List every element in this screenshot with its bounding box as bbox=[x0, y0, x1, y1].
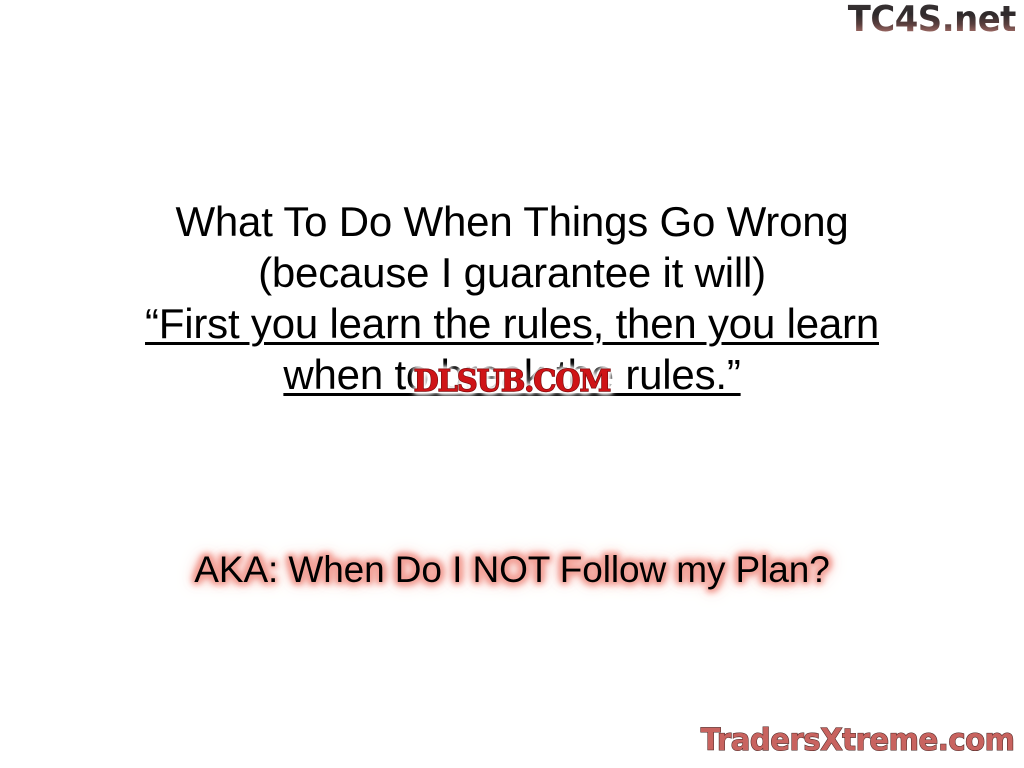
tc4s-brand-logo: TC4S.net bbox=[848, 2, 1016, 38]
aka-question-line: AKA: When Do I NOT Follow my Plan? bbox=[0, 547, 1024, 593]
body-line-3-quote-part-1: “First you learn the rules, then you lea… bbox=[0, 298, 1024, 349]
slide-canvas: TC4S.net What To Do When Things Go Wrong… bbox=[0, 0, 1024, 768]
body-line-2: (because I guarantee it will) bbox=[0, 247, 1024, 298]
dlsub-watermark: DLSUB.COM bbox=[414, 367, 611, 397]
body-line-1: What To Do When Things Go Wrong bbox=[0, 196, 1024, 247]
tradersxtreme-brand-logo: TradersXtreme.com bbox=[700, 726, 1014, 756]
